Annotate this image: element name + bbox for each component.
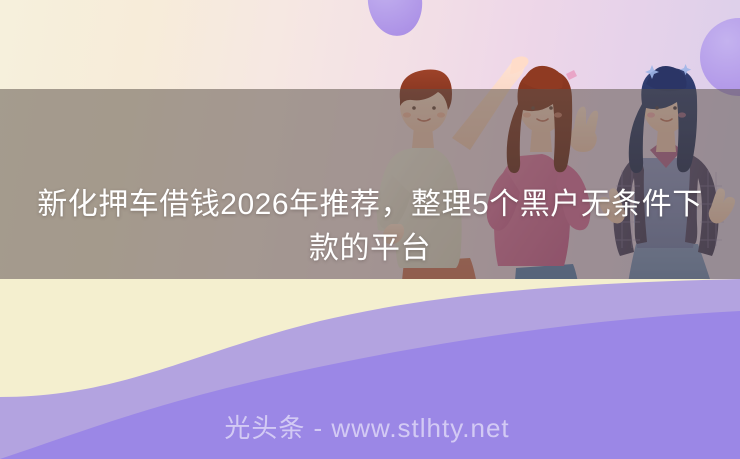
site-watermark: 光头条 - www.stlhty.net: [0, 411, 740, 445]
page-title: 新化押车借钱2026年推荐，整理5个黑户无条件下款的平台: [0, 183, 740, 271]
article-cover-banner: 新化押车借钱2026年推荐，整理5个黑户无条件下款的平台 光头条 - www.s…: [0, 0, 740, 459]
